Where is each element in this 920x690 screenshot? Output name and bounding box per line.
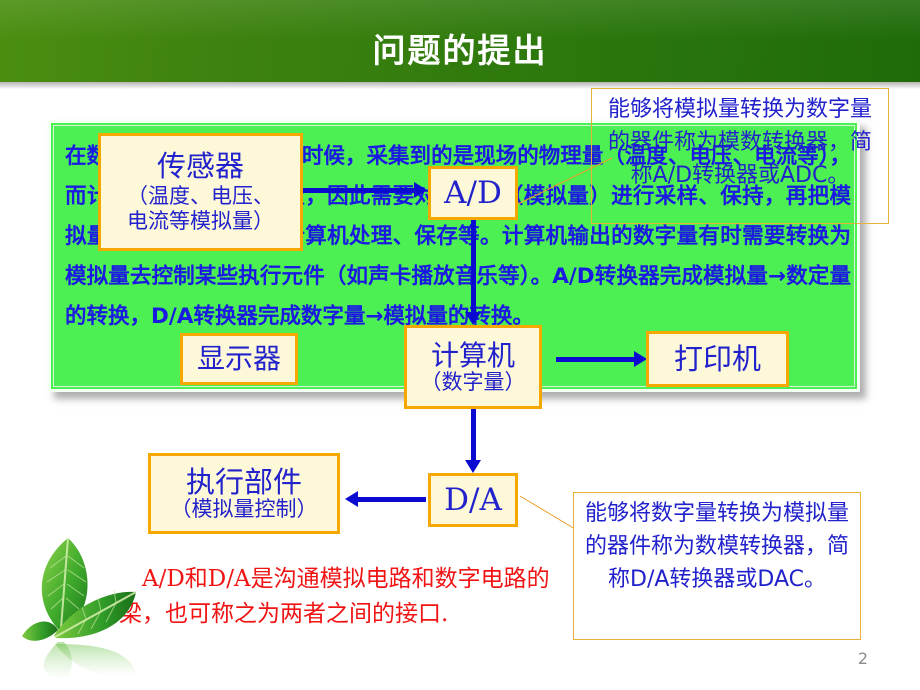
node-actuator-sublabel: （模拟量控制） — [171, 498, 318, 522]
node-computer-sublabel: （数字量） — [421, 371, 526, 395]
callout-dac-text: 能够将数字量转换为模拟量的器件称为数模转换器，简称D/A转换器或DAC。 — [580, 497, 854, 596]
page-title: 问题的提出 — [0, 24, 920, 72]
callout-adc-definition: 能够将模拟量转换为数字量的器件称为模数转换器，简称A/D转换器或ADC。 — [591, 88, 889, 224]
node-da-label: D/A — [444, 483, 502, 518]
node-display[interactable]: 显示器 — [180, 333, 298, 385]
node-actuator[interactable]: 执行部件 （模拟量控制） — [148, 453, 340, 534]
node-sensor-label: 传感器 — [157, 150, 244, 182]
node-sensor-sublabel: （温度、电压、 电流等模拟量） — [127, 184, 274, 234]
callout-dac-definition: 能够将数字量转换为模拟量的器件称为数模转换器，简称D/A转换器或DAC。 — [573, 492, 861, 640]
arrow-da-to-actuator-line — [358, 497, 426, 502]
node-printer-label: 打印机 — [674, 343, 761, 375]
arrow-computer-to-printer-line — [556, 357, 636, 362]
leaf-icon — [6, 524, 156, 684]
node-display-label: 显示器 — [197, 343, 281, 374]
node-ad-converter[interactable]: A/D — [428, 166, 518, 220]
node-da-converter[interactable]: D/A — [428, 473, 518, 527]
node-computer[interactable]: 计算机 （数字量） — [404, 325, 542, 409]
arrow-ad-to-computer-line — [471, 220, 476, 316]
arrow-computer-to-da-line — [471, 409, 476, 464]
arrow-da-to-actuator-head — [345, 491, 358, 507]
conclusion-text: A/D和D/A是沟通模拟电路和数字电路的桥梁，也可称之为两者之间的接口. — [96, 562, 566, 632]
arrow-sensor-to-ad-head — [414, 182, 427, 198]
node-sensor[interactable]: 传感器 （温度、电压、 电流等模拟量） — [98, 133, 303, 251]
arrow-computer-to-da-head — [465, 460, 481, 473]
node-printer[interactable]: 打印机 — [646, 331, 789, 387]
node-ad-label: A/D — [444, 176, 502, 211]
arrow-ad-to-computer-head — [465, 312, 481, 325]
node-actuator-label: 执行部件 — [186, 466, 302, 498]
page-number: 2 — [858, 649, 868, 668]
callout-adc-text: 能够将模拟量转换为数字量的器件称为模数转换器，简称A/D转换器或ADC。 — [598, 93, 882, 192]
node-computer-label: 计算机 — [431, 340, 515, 371]
slide-canvas: 问题的提出 在数据采集和过程控制的时候，采集到的是现场的物理量（温度、电压、电流… — [0, 0, 920, 690]
arrow-sensor-to-ad-line — [300, 188, 416, 193]
